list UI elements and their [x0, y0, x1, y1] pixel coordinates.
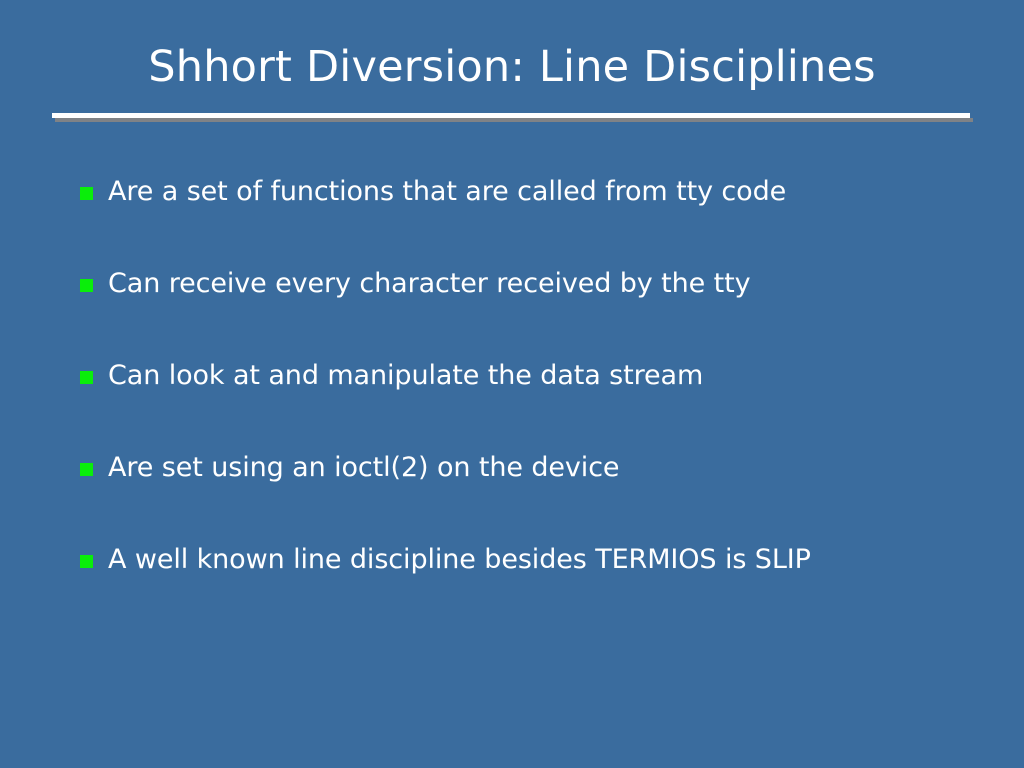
title-divider-shadow	[55, 118, 973, 122]
square-bullet-icon	[80, 279, 93, 292]
list-item: A well known line discipline besides TER…	[80, 543, 1000, 635]
square-bullet-icon	[80, 187, 93, 200]
list-item-label: Can receive every character received by …	[108, 267, 1000, 301]
list-item-label: A well known line discipline besides TER…	[108, 543, 1000, 577]
list-item-label: Are set using an ioctl(2) on the device	[108, 451, 1000, 485]
square-bullet-icon	[80, 463, 93, 476]
page-title: Shhort Diversion: Line Disciplines	[148, 46, 875, 89]
square-bullet-icon	[80, 555, 93, 568]
list-item: Can look at and manipulate the data stre…	[80, 359, 1000, 451]
list-item: Are a set of functions that are called f…	[80, 175, 1000, 267]
square-bullet-icon	[80, 371, 93, 384]
list-item-label: Can look at and manipulate the data stre…	[108, 359, 1000, 393]
list-item-label: Are a set of functions that are called f…	[108, 175, 1000, 209]
bullet-list: Are a set of functions that are called f…	[80, 175, 1000, 635]
list-item: Are set using an ioctl(2) on the device	[80, 451, 1000, 543]
slide-title-block: Shhort Diversion: Line Disciplines	[0, 46, 1024, 89]
list-item: Can receive every character received by …	[80, 267, 1000, 359]
presentation-slide: Shhort Diversion: Line Disciplines Are a…	[0, 0, 1024, 768]
